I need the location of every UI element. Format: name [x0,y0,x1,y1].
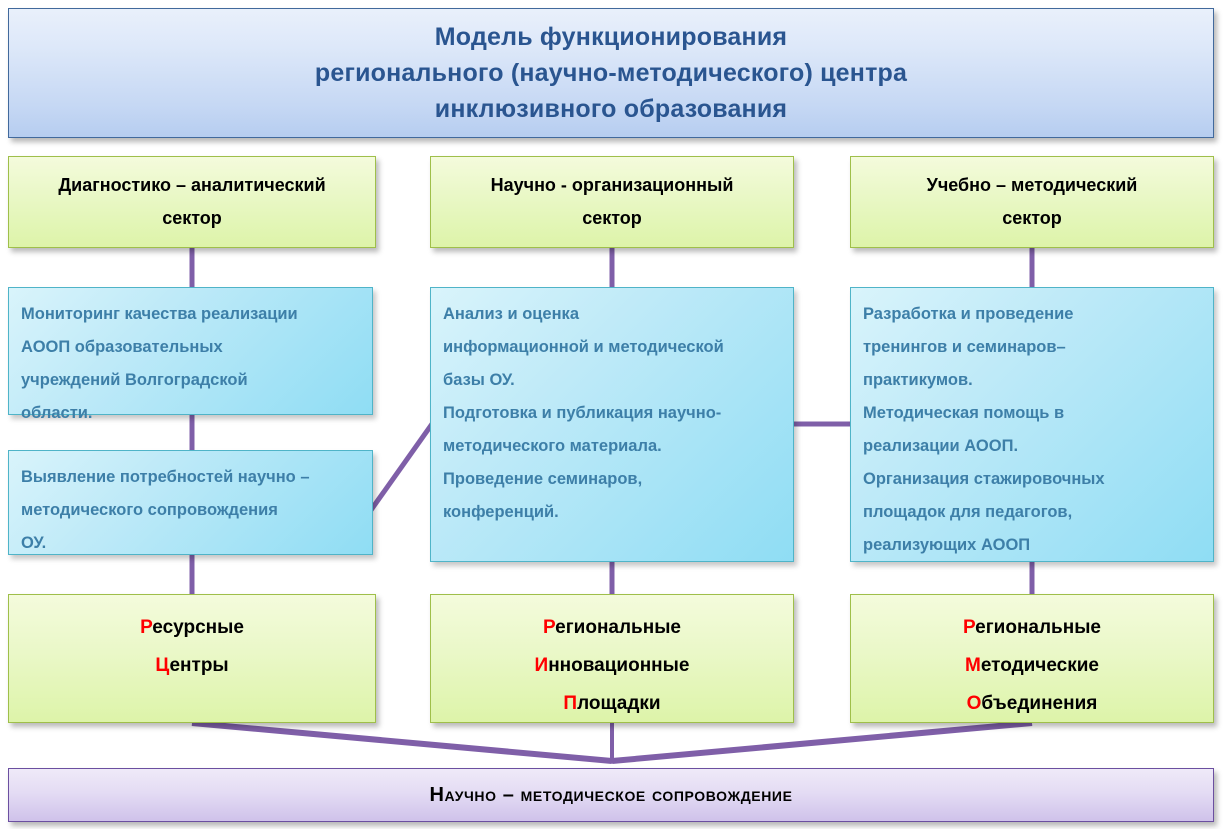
result-box-innovation-platforms: Региональные Инновационные Площадки [430,594,794,723]
diagram-title: Модель функционирования регионального (н… [8,8,1214,138]
task-line: конференций. [443,496,781,529]
result-rest: нновационные [548,655,689,676]
task-line: ОУ. [21,527,360,560]
sector-header-line: Учебно – методический [927,169,1138,202]
connector-result3-to-footer [612,723,1032,761]
task-box-monitoring: Мониторинг качества реализации АООП обра… [8,287,373,415]
result-highlight-letter: И [535,655,549,676]
footer-banner: Научно – методическое сопровождение [8,768,1214,822]
task-line: методического сопровождения [21,494,360,527]
result-highlight-letter: Ц [155,655,169,676]
title-line-2: регионального (научно-методического) цен… [315,55,907,91]
result-rest: егиональные [975,617,1101,638]
sector-header-line: Научно - организационный [491,169,734,202]
title-line-1: Модель функционирования [435,19,787,55]
result-line: Региональные [963,609,1101,647]
task-line: Выявление потребностей научно – [21,461,360,494]
task-box-needs-identification: Выявление потребностей научно – методиче… [8,450,373,555]
task-line: информационной и методической [443,331,781,364]
task-line: площадок для педагогов, [863,496,1201,529]
task-box-trainings-internships: Разработка и проведение тренингов и семи… [850,287,1214,562]
task-line: учреждений Волгоградской [21,364,360,397]
task-line: практикумов. [863,364,1201,397]
result-highlight-letter: О [967,693,982,714]
result-line: Ресурсные [140,609,244,647]
result-highlight-letter: П [563,693,577,714]
footer-text: Научно – методическое сопровождение [429,784,792,807]
task-line: Анализ и оценка [443,298,781,331]
result-highlight-letter: Р [140,617,152,638]
sector-header-line: сектор [582,202,642,235]
result-box-methodical-associations: Региональные Методические Объединения [850,594,1214,723]
task-line: Мониторинг качества реализации [21,298,360,331]
result-line: Региональные [543,609,681,647]
connector-result1-to-footer [192,723,612,761]
task-line: методического материала. [443,430,781,463]
result-line: Объединения [967,685,1098,723]
sector-header-line: Диагностико – аналитический [58,169,325,202]
result-line: Инновационные [535,647,690,685]
result-rest: есурсные [152,617,244,638]
task-line: реализации АООП. [863,430,1201,463]
diagram-canvas: Модель функционирования регионального (н… [0,0,1226,829]
result-line: Площадки [563,685,660,723]
task-line: Разработка и проведение [863,298,1201,331]
task-line: Методическая помощь в [863,397,1201,430]
task-box-analysis-publication: Анализ и оценка информационной и методич… [430,287,794,562]
result-rest: егиональные [555,617,681,638]
sector-header-line: сектор [162,202,222,235]
task-line: базы ОУ. [443,364,781,397]
result-rest: лощадки [577,693,661,714]
result-highlight-letter: Р [963,617,975,638]
result-highlight-letter: М [965,655,981,676]
title-line-3: инклюзивного образования [435,91,787,127]
result-box-resource-centers: Ресурсные Центры [8,594,376,723]
task-line: АООП образовательных [21,331,360,364]
task-line: области. [21,397,360,430]
result-rest: етодические [981,655,1099,676]
result-line: Центры [155,647,228,685]
task-line: тренингов и семинаров– [863,331,1201,364]
result-rest: бъединения [981,693,1097,714]
sector-header-educational-methodical: Учебно – методический сектор [850,156,1214,248]
task-line: Подготовка и публикация научно- [443,397,781,430]
task-line: реализующих АООП [863,529,1201,562]
task-line: Организация стажировочных [863,463,1201,496]
task-line: Проведение семинаров, [443,463,781,496]
result-line: Методические [965,647,1099,685]
sector-header-line: сектор [1002,202,1062,235]
result-rest: ентры [169,655,228,676]
result-highlight-letter: Р [543,617,555,638]
connector-diagonal-mid-to-col1 [371,424,432,510]
sector-header-scientific-organizational: Научно - организационный сектор [430,156,794,248]
sector-header-diagnostic-analytical: Диагностико – аналитический сектор [8,156,376,248]
